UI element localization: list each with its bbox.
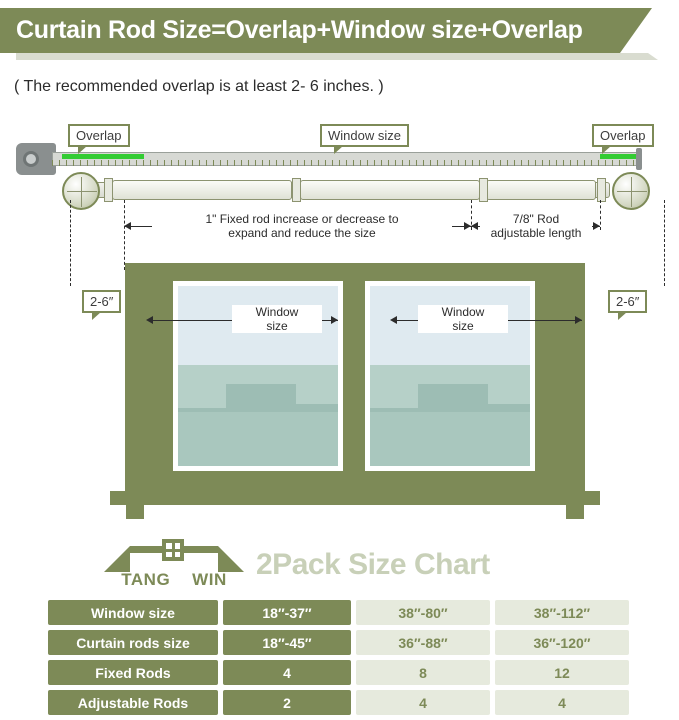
window-size-label-left-line2: size — [266, 319, 287, 333]
row-label: Curtain rods size — [48, 630, 218, 655]
page-title: Curtain Rod Size=Overlap+Window size+Ove… — [0, 16, 583, 45]
rod-collar-mid-right — [479, 178, 488, 202]
window-sill — [110, 491, 600, 505]
rod-finial-left-icon — [62, 172, 100, 210]
dim-label-fixed-line2: expand and reduce the size — [228, 226, 375, 240]
window-size-label-left-line1: Window — [256, 305, 299, 319]
window-leg-left — [126, 505, 144, 519]
tag-overlap-left-side: 2-6″ — [82, 290, 121, 313]
table-row: Curtain rods size 18″-45″ 36″-88″ 36″-12… — [48, 630, 632, 655]
table-row: Adjustable Rods 2 4 4 — [48, 690, 632, 715]
tag-overlap-right-side: 2-6″ — [608, 290, 647, 313]
rod-segment-center — [300, 180, 480, 200]
banner-shadow — [16, 53, 648, 60]
size-chart-table: Window size 18″-37″ 38″-80″ 38″-112″ Cur… — [48, 600, 632, 720]
row-value-3: 4 — [495, 690, 629, 715]
logo-wordmark: TANGWIN — [104, 570, 244, 590]
window-dim-arrow-left-end — [331, 316, 338, 324]
tag-overlap-left: Overlap — [68, 124, 130, 147]
overlap-highlight-right — [600, 154, 640, 159]
row-value-2: 4 — [356, 690, 490, 715]
row-value-3: 36″-120″ — [495, 630, 629, 655]
tape-measure-end-cap — [636, 148, 642, 170]
tag-window-size-top: Window size — [320, 124, 409, 147]
overlap-highlight-left — [62, 154, 144, 159]
dim-guide-far-right — [664, 200, 665, 286]
row-value-3: 38″-112″ — [495, 600, 629, 625]
rod-collar-mid-left — [292, 178, 301, 202]
logo-roof-right-icon — [218, 546, 244, 572]
row-label: Window size — [48, 600, 218, 625]
window-size-label-right-line1: Window — [442, 305, 485, 319]
window-leg-right — [566, 505, 584, 519]
brand-logo: TANGWIN — [104, 534, 244, 589]
logo-brand-right: WIN — [192, 570, 227, 589]
window-dim-arrow-left-start — [146, 316, 153, 324]
dim-arrow-fixed-left — [124, 222, 131, 230]
tag-overlap-right: Overlap — [592, 124, 654, 147]
rod-collar-left — [104, 178, 113, 202]
pane-foreground-right — [370, 412, 530, 466]
row-label: Adjustable Rods — [48, 690, 218, 715]
row-value-1: 18″-37″ — [223, 600, 351, 625]
row-value-1: 2 — [223, 690, 351, 715]
row-value-1: 4 — [223, 660, 351, 685]
logo-brand-left: TANG — [121, 570, 170, 589]
window-size-label-left: Window size — [232, 305, 322, 333]
window-frame — [125, 263, 585, 491]
row-value-1: 18″-45″ — [223, 630, 351, 655]
logo-window-icon — [162, 539, 184, 561]
pane-foreground-left — [178, 412, 338, 466]
rod-collar-right — [597, 178, 606, 202]
logo-roof-left-icon — [104, 546, 130, 572]
subtitle-note: ( The recommended overlap is at least 2-… — [14, 78, 384, 96]
dim-arrow-fixed-right — [464, 222, 471, 230]
dim-label-adjustable: 7/8" Rod adjustable length — [480, 212, 592, 240]
row-value-2: 8 — [356, 660, 490, 685]
dim-label-adj-line1: 7/8" Rod — [513, 212, 559, 226]
dim-arrow-adj-right — [593, 222, 600, 230]
banner-shadow-tail — [648, 53, 658, 60]
rod-segment-left — [112, 180, 292, 200]
dim-label-fixed-rod: 1" Fixed rod increase or decrease to exp… — [152, 212, 452, 240]
dim-guide-left — [124, 200, 125, 270]
tape-measure-case-icon — [16, 143, 56, 175]
size-chart-title: 2Pack Size Chart — [256, 548, 490, 582]
row-label: Fixed Rods — [48, 660, 218, 685]
dim-guide-far-left — [70, 200, 71, 286]
table-row: Fixed Rods 4 8 12 — [48, 660, 632, 685]
banner-tail-shape — [620, 8, 652, 53]
window-size-label-right-line2: size — [452, 319, 473, 333]
tape-measure-ticks — [52, 160, 638, 166]
window-dim-arrow-right-start — [390, 316, 397, 324]
table-row: Window size 18″-37″ 38″-80″ 38″-112″ — [48, 600, 632, 625]
dim-guide-right — [600, 200, 601, 230]
header-banner: Curtain Rod Size=Overlap+Window size+Ove… — [0, 8, 620, 53]
dim-arrow-adj-left — [471, 222, 478, 230]
row-value-2: 36″-88″ — [356, 630, 490, 655]
window-dim-arrow-right-end — [575, 316, 582, 324]
row-value-3: 12 — [495, 660, 629, 685]
window-size-label-right: Window size — [418, 305, 508, 333]
rod-finial-right-icon — [612, 172, 650, 210]
dim-label-fixed-line1: 1" Fixed rod increase or decrease to — [205, 212, 398, 226]
row-value-2: 38″-80″ — [356, 600, 490, 625]
dim-label-adj-line2: adjustable length — [491, 226, 582, 240]
rod-segment-right — [486, 180, 596, 200]
